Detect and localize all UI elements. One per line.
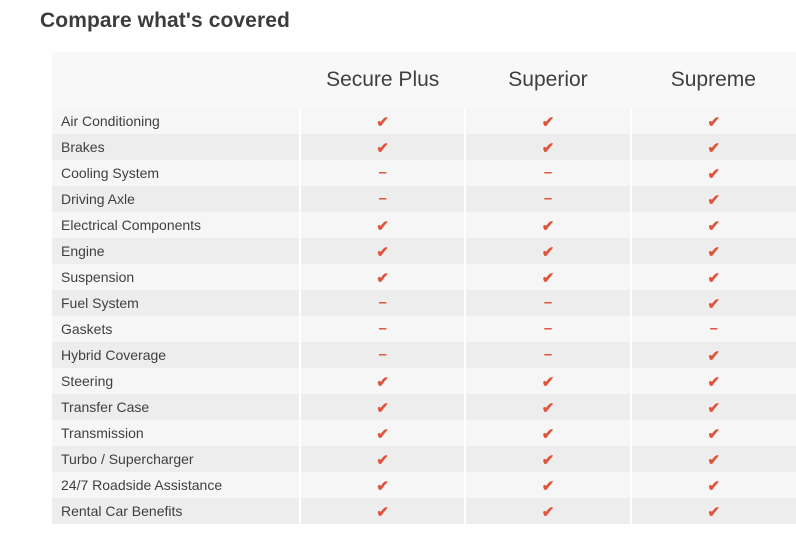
feature-label: Air Conditioning	[52, 108, 300, 134]
check-icon: ✔	[376, 479, 389, 494]
coverage-cell-supreme: ✔	[631, 498, 796, 524]
coverage-cell-secure-plus: –	[300, 342, 465, 368]
coverage-cell-secure-plus: ✔	[300, 420, 465, 446]
table-row: Driving Axle––✔	[52, 186, 796, 212]
table-row: Engine✔✔✔	[52, 238, 796, 264]
check-icon: ✔	[708, 349, 721, 364]
table-row: Electrical Components✔✔✔	[52, 212, 796, 238]
coverage-cell-supreme: ✔	[631, 290, 796, 316]
coverage-cell-supreme: ✔	[631, 134, 796, 160]
comparison-table-container: Secure Plus Superior Supreme Air Conditi…	[52, 52, 796, 524]
coverage-cell-superior: ✔	[465, 134, 630, 160]
dash-icon: –	[379, 347, 387, 362]
coverage-cell-secure-plus: ✔	[300, 108, 465, 134]
table-row: Turbo / Supercharger✔✔✔	[52, 446, 796, 472]
table-row: Hybrid Coverage––✔	[52, 342, 796, 368]
check-icon: ✔	[708, 427, 721, 442]
check-icon: ✔	[542, 245, 555, 260]
coverage-cell-superior: ✔	[465, 238, 630, 264]
coverage-cell-secure-plus: ✔	[300, 368, 465, 394]
page-title: Compare what's covered	[40, 9, 290, 33]
table-row: Transmission✔✔✔	[52, 420, 796, 446]
dash-icon: –	[379, 295, 387, 310]
feature-label: Transmission	[52, 420, 300, 446]
check-icon: ✔	[708, 245, 721, 260]
coverage-cell-secure-plus: ✔	[300, 472, 465, 498]
coverage-cell-secure-plus: ✔	[300, 498, 465, 524]
coverage-cell-superior: ✔	[465, 472, 630, 498]
check-icon: ✔	[542, 401, 555, 416]
table-body: Air Conditioning✔✔✔Brakes✔✔✔Cooling Syst…	[52, 108, 796, 524]
coverage-cell-superior: ✔	[465, 212, 630, 238]
plan-column-header-supreme: Supreme	[631, 52, 796, 108]
dash-icon: –	[544, 191, 552, 206]
coverage-cell-secure-plus: ✔	[300, 264, 465, 290]
coverage-cell-superior: –	[465, 186, 630, 212]
coverage-cell-supreme: ✔	[631, 342, 796, 368]
coverage-cell-superior: ✔	[465, 394, 630, 420]
check-icon: ✔	[542, 141, 555, 156]
table-row: Air Conditioning✔✔✔	[52, 108, 796, 134]
check-icon: ✔	[708, 375, 721, 390]
check-icon: ✔	[376, 271, 389, 286]
feature-label: Cooling System	[52, 160, 300, 186]
feature-label: Steering	[52, 368, 300, 394]
feature-label: Rental Car Benefits	[52, 498, 300, 524]
table-row: Gaskets–––	[52, 316, 796, 342]
table-header: Secure Plus Superior Supreme	[52, 52, 796, 108]
check-icon: ✔	[376, 141, 389, 156]
check-icon: ✔	[542, 375, 555, 390]
check-icon: ✔	[376, 453, 389, 468]
coverage-cell-secure-plus: ✔	[300, 134, 465, 160]
check-icon: ✔	[376, 245, 389, 260]
table-row: Transfer Case✔✔✔	[52, 394, 796, 420]
coverage-cell-supreme: ✔	[631, 420, 796, 446]
coverage-cell-supreme: ✔	[631, 394, 796, 420]
feature-label: Transfer Case	[52, 394, 300, 420]
coverage-cell-secure-plus: –	[300, 160, 465, 186]
check-icon: ✔	[376, 219, 389, 234]
coverage-cell-superior: –	[465, 316, 630, 342]
coverage-cell-superior: –	[465, 342, 630, 368]
coverage-cell-supreme: ✔	[631, 160, 796, 186]
dash-icon: –	[544, 347, 552, 362]
table-row: Steering✔✔✔	[52, 368, 796, 394]
check-icon: ✔	[376, 115, 389, 130]
coverage-cell-secure-plus: ✔	[300, 212, 465, 238]
check-icon: ✔	[708, 297, 721, 312]
feature-label: 24/7 Roadside Assistance	[52, 472, 300, 498]
feature-label: Hybrid Coverage	[52, 342, 300, 368]
check-icon: ✔	[708, 167, 721, 182]
coverage-cell-supreme: ✔	[631, 238, 796, 264]
dash-icon: –	[710, 321, 718, 336]
plan-column-header-secure-plus: Secure Plus	[300, 52, 465, 108]
check-icon: ✔	[708, 271, 721, 286]
check-icon: ✔	[708, 479, 721, 494]
coverage-cell-superior: ✔	[465, 264, 630, 290]
table-row: Rental Car Benefits✔✔✔	[52, 498, 796, 524]
check-icon: ✔	[376, 401, 389, 416]
coverage-cell-secure-plus: ✔	[300, 238, 465, 264]
coverage-cell-supreme: ✔	[631, 472, 796, 498]
coverage-cell-secure-plus: ✔	[300, 394, 465, 420]
dash-icon: –	[544, 295, 552, 310]
check-icon: ✔	[708, 505, 721, 520]
table-row: Fuel System––✔	[52, 290, 796, 316]
coverage-comparison-table: Secure Plus Superior Supreme Air Conditi…	[52, 52, 796, 524]
table-row: Cooling System––✔	[52, 160, 796, 186]
coverage-cell-supreme: ✔	[631, 264, 796, 290]
coverage-cell-supreme: ✔	[631, 368, 796, 394]
dash-icon: –	[379, 165, 387, 180]
dash-icon: –	[544, 321, 552, 336]
feature-column-header	[52, 52, 300, 108]
coverage-cell-superior: –	[465, 290, 630, 316]
check-icon: ✔	[376, 375, 389, 390]
dash-icon: –	[544, 165, 552, 180]
coverage-cell-superior: ✔	[465, 498, 630, 524]
coverage-cell-supreme: ✔	[631, 186, 796, 212]
table-row: Suspension✔✔✔	[52, 264, 796, 290]
coverage-cell-secure-plus: ✔	[300, 446, 465, 472]
coverage-cell-supreme: ✔	[631, 108, 796, 134]
check-icon: ✔	[708, 453, 721, 468]
table-row: 24/7 Roadside Assistance✔✔✔	[52, 472, 796, 498]
feature-label: Driving Axle	[52, 186, 300, 212]
coverage-cell-secure-plus: –	[300, 186, 465, 212]
feature-label: Fuel System	[52, 290, 300, 316]
feature-label: Turbo / Supercharger	[52, 446, 300, 472]
coverage-cell-superior: –	[465, 160, 630, 186]
coverage-cell-superior: ✔	[465, 108, 630, 134]
feature-label: Electrical Components	[52, 212, 300, 238]
check-icon: ✔	[542, 505, 555, 520]
table-row: Brakes✔✔✔	[52, 134, 796, 160]
coverage-cell-secure-plus: –	[300, 316, 465, 342]
check-icon: ✔	[376, 505, 389, 520]
check-icon: ✔	[542, 115, 555, 130]
coverage-cell-superior: ✔	[465, 420, 630, 446]
check-icon: ✔	[542, 479, 555, 494]
feature-label: Brakes	[52, 134, 300, 160]
check-icon: ✔	[542, 219, 555, 234]
coverage-cell-superior: ✔	[465, 446, 630, 472]
check-icon: ✔	[542, 427, 555, 442]
coverage-cell-supreme: ✔	[631, 446, 796, 472]
coverage-cell-superior: ✔	[465, 368, 630, 394]
dash-icon: –	[379, 191, 387, 206]
coverage-cell-supreme: ✔	[631, 212, 796, 238]
check-icon: ✔	[708, 115, 721, 130]
check-icon: ✔	[708, 401, 721, 416]
feature-label: Suspension	[52, 264, 300, 290]
check-icon: ✔	[542, 453, 555, 468]
check-icon: ✔	[708, 141, 721, 156]
dash-icon: –	[379, 321, 387, 336]
check-icon: ✔	[708, 193, 721, 208]
check-icon: ✔	[708, 219, 721, 234]
feature-label: Engine	[52, 238, 300, 264]
coverage-cell-supreme: –	[631, 316, 796, 342]
header-row: Secure Plus Superior Supreme	[52, 52, 796, 108]
compare-coverage-page: Compare what's covered Secure Plus Super…	[0, 0, 796, 544]
coverage-cell-secure-plus: –	[300, 290, 465, 316]
plan-column-header-superior: Superior	[465, 52, 630, 108]
feature-label: Gaskets	[52, 316, 300, 342]
check-icon: ✔	[542, 271, 555, 286]
check-icon: ✔	[376, 427, 389, 442]
